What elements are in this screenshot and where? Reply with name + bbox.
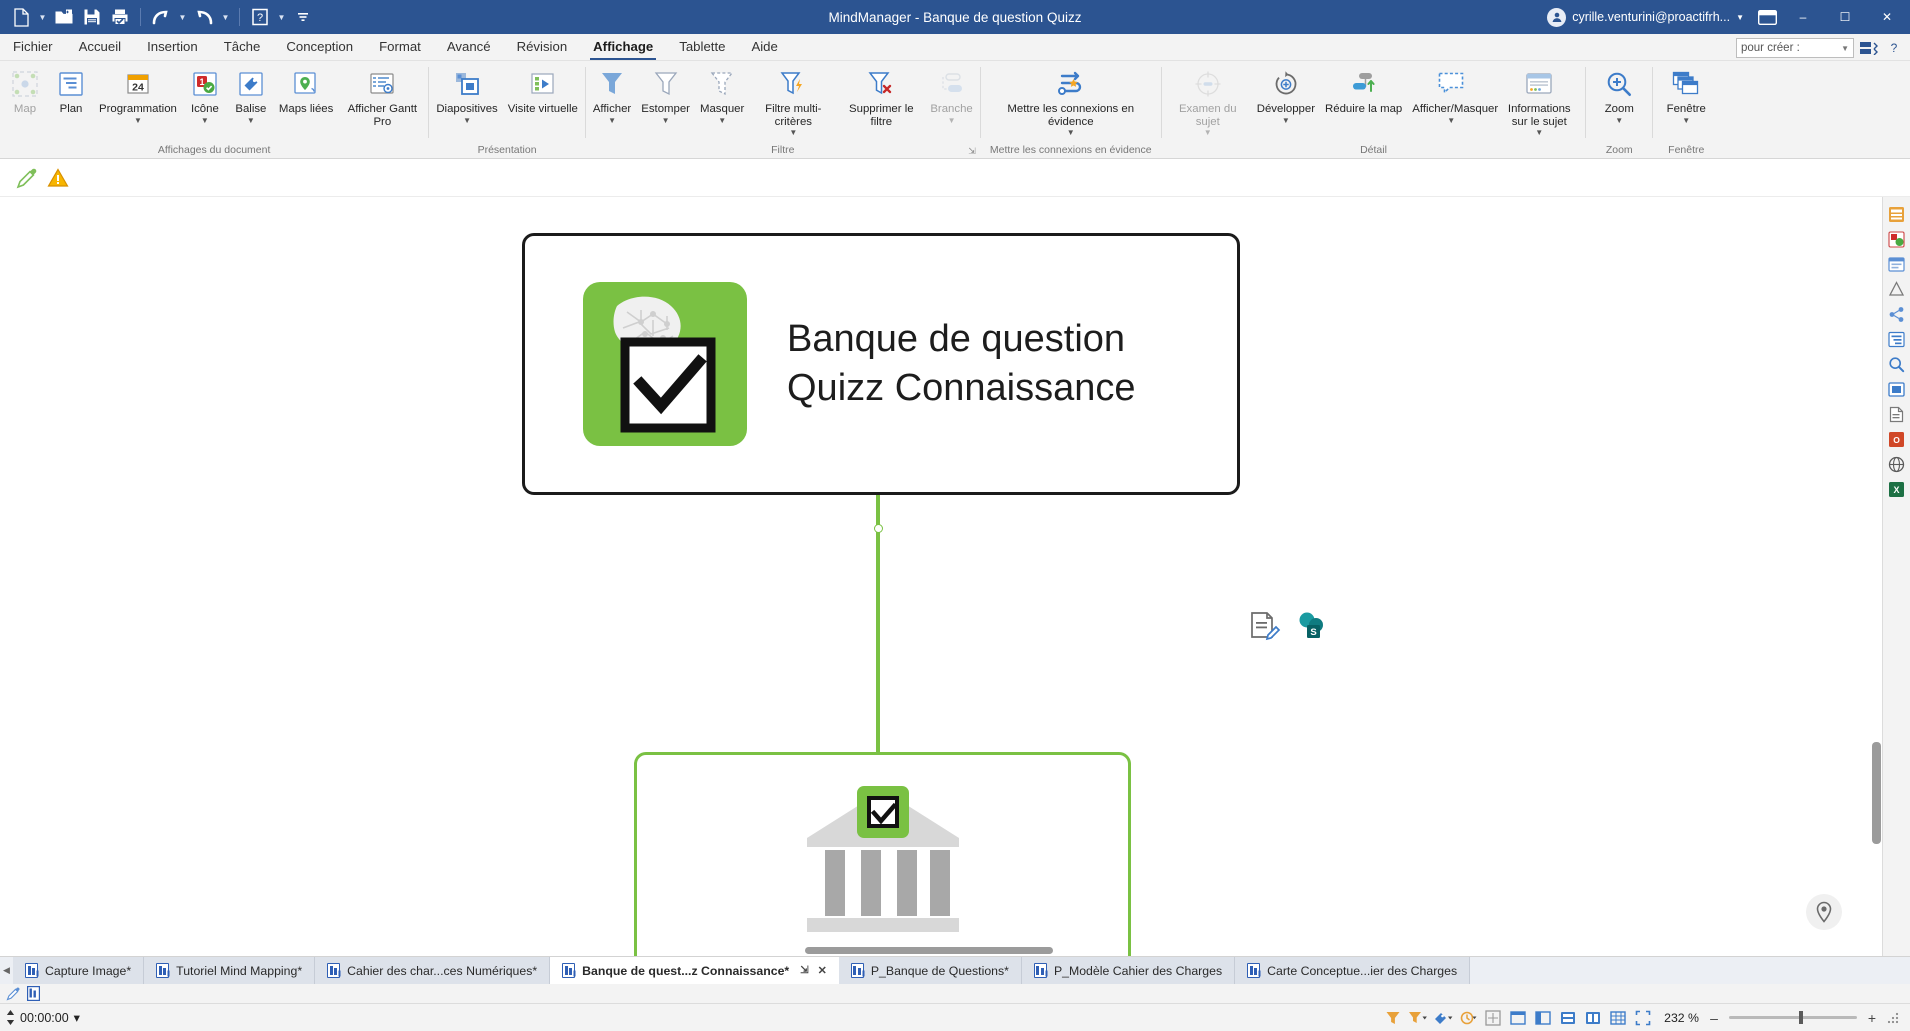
ribbon-group-label-detail: Détail: [1164, 142, 1584, 158]
zoom-out-button[interactable]: –: [1707, 1010, 1721, 1026]
filtre-dialog-launcher[interactable]: ⇲: [968, 143, 976, 159]
document-tab-label: Capture Image*: [45, 964, 131, 978]
outline-view-icon: [58, 68, 84, 100]
topic-review-icon: [1194, 68, 1222, 100]
horizontal-scrollbar-thumb[interactable]: [805, 947, 1053, 954]
ribbon-label-maps-liees: Maps liées: [279, 103, 333, 116]
svg-text:?: ?: [1891, 41, 1898, 55]
chevron-down-icon: ▼: [1204, 128, 1212, 138]
document-tab-tutoriel-mind-mapping[interactable]: Tutoriel Mind Mapping*: [144, 957, 315, 984]
chevron-down-icon[interactable]: ▼: [1447, 116, 1455, 126]
map-pin-icon[interactable]: [1806, 894, 1842, 930]
document-tab-label: Banque de quest...z Connaissance*: [582, 964, 789, 978]
ribbon-button-visite-virtuelle[interactable]: Visite virtuelle: [503, 66, 583, 116]
ribbon-button-map[interactable]: Map: [2, 66, 48, 116]
ribbon-label-icone: Icône: [191, 103, 219, 116]
map-timer[interactable]: 00:00:00 ▾: [6, 1010, 80, 1025]
warning-triangle-icon[interactable]: [47, 167, 69, 189]
chevron-down-icon[interactable]: ▼: [608, 116, 616, 126]
web-panel-icon[interactable]: [1886, 453, 1908, 475]
svg-text:24: 24: [132, 82, 144, 94]
ribbon-label-visite-virtuelle: Visite virtuelle: [508, 103, 578, 116]
mindmanager-doc-icon: [1034, 963, 1047, 978]
tab-aide[interactable]: Aide: [738, 36, 790, 60]
new-document-caret[interactable]: ▼: [36, 4, 49, 30]
gantt-pro-icon: [369, 68, 395, 100]
ribbon-button-fenetre[interactable]: Fenêtre ▼: [1655, 66, 1717, 126]
ribbon-label-afficher-gantt-pro: Afficher Gantt Pro: [343, 103, 421, 128]
ribbon-button-estomper[interactable]: Estomper ▼: [636, 66, 695, 126]
tab-insertion[interactable]: Insertion: [134, 36, 211, 60]
highlight-connections-icon: [1055, 68, 1087, 100]
ribbon-label-afficher-filtre: Afficher: [593, 103, 631, 116]
resize-grip-icon[interactable]: [1882, 1008, 1904, 1028]
undo-button[interactable]: [148, 4, 174, 30]
ribbon-label-informations-sur-le-sujet: Informations sur le sujet: [1500, 103, 1578, 128]
library-icon[interactable]: [1886, 203, 1908, 225]
svg-text:?: ?: [257, 12, 263, 24]
ribbon-group-label-zoom: Zoom: [1588, 142, 1650, 158]
funnel-filled-icon: [599, 68, 625, 100]
outline-panel-icon[interactable]: [1886, 328, 1908, 350]
ribbon-label-diapositives: Diapositives: [436, 103, 497, 116]
menu-right-controls: pour créer : ▼ ?: [1736, 38, 1910, 60]
customize-qat-button[interactable]: [290, 4, 316, 30]
chevron-down-icon[interactable]: ▼: [789, 128, 797, 138]
ribbon-label-fenetre: Fenêtre: [1667, 103, 1706, 116]
ribbon-display-options-icon[interactable]: [1752, 2, 1782, 32]
ribbon-button-afficher-filtre[interactable]: Afficher ▼: [588, 66, 636, 126]
status-bar-right: 232 % – +: [1382, 1008, 1904, 1028]
panel-split-icon[interactable]: [1557, 1008, 1579, 1028]
tasks-panel-icon[interactable]: [1886, 253, 1908, 275]
tab-revision[interactable]: Révision: [504, 36, 581, 60]
zoom-in-button[interactable]: +: [1865, 1010, 1879, 1026]
print-document-button[interactable]: [107, 4, 133, 30]
document-tab-label: Carte Conceptue...ier des Charges: [1267, 964, 1457, 978]
ribbon-button-developper[interactable]: Développer ▼: [1252, 66, 1320, 126]
map-root-line1: Banque de question: [787, 315, 1136, 364]
ribbon-label-estomper: Estomper: [641, 103, 690, 116]
ribbon-button-mettre-connexions-evidence[interactable]: Mettre les connexions en évidence ▼: [986, 66, 1156, 138]
map-root-attachments: S: [1248, 611, 1328, 641]
slides-panel-icon[interactable]: [1886, 378, 1908, 400]
ribbon-button-icone[interactable]: 1 Icône ▼: [182, 66, 228, 126]
notes-panel-icon[interactable]: [1886, 403, 1908, 425]
ribbon-button-programmation[interactable]: 24 Programmation ▼: [94, 66, 182, 126]
show-hide-icon: [1437, 68, 1465, 100]
svg-text:X: X: [1893, 485, 1899, 495]
tell-me-placeholder: pour créer :: [1741, 42, 1800, 54]
chevron-down-icon: ▼: [1736, 13, 1744, 22]
ribbon-label-examen-du-sujet: Examen du sujet: [1169, 103, 1247, 128]
ribbon-label-masquer: Masquer: [700, 103, 744, 116]
tab-tache[interactable]: Tâche: [211, 36, 274, 60]
map-root-topic[interactable]: Banque de question Quizz Connaissance: [522, 233, 1240, 495]
new-document-button[interactable]: [8, 4, 34, 30]
grid-icon[interactable]: [1607, 1008, 1629, 1028]
icon-marker-icon: 1: [192, 68, 218, 100]
map-root-text: Banque de question Quizz Connaissance: [787, 315, 1136, 414]
ribbon-button-supprimer-le-filtre[interactable]: Supprimer le filtre: [837, 66, 925, 128]
ribbon-button-plan[interactable]: Plan: [48, 66, 94, 116]
tab-fichier[interactable]: Fichier: [0, 36, 66, 60]
document-tab-cahier-des-charges-numeriques[interactable]: Cahier des char...ces Numériques*: [315, 957, 550, 984]
filter-dropdown-icon[interactable]: [1407, 1008, 1429, 1028]
tab-accueil[interactable]: Accueil: [66, 36, 135, 60]
linked-maps-icon: [293, 68, 319, 100]
ribbon-group-fenetre: Fenêtre ▼ Fenêtre: [1653, 61, 1719, 158]
mindmanager-doc-icon: [1247, 963, 1260, 978]
topic-info-icon: [1525, 68, 1553, 100]
ribbon-button-afficher-gantt-pro[interactable]: Afficher Gantt Pro: [338, 66, 426, 128]
document-icon[interactable]: [27, 986, 40, 1001]
tell-me-input[interactable]: pour créer : ▼: [1736, 38, 1854, 58]
help-quick-button[interactable]: ?: [247, 4, 273, 30]
mindmanager-doc-icon: [327, 963, 340, 978]
account-name: cyrille.venturini@proactifrh...: [1572, 10, 1730, 24]
chevron-down-icon[interactable]: ▼: [134, 116, 142, 126]
ribbon-group-label-filtre-text: Filtre: [771, 144, 794, 156]
document-tab-carte-conceptuelle-cahier-des-charges[interactable]: Carte Conceptue...ier des Charges: [1235, 957, 1470, 984]
restore-button[interactable]: ☐: [1824, 0, 1866, 34]
search-icon[interactable]: [1886, 353, 1908, 375]
chevron-down-icon[interactable]: ▼: [1067, 128, 1075, 138]
chevron-down-icon[interactable]: ▼: [247, 116, 255, 126]
avatar: [1547, 8, 1566, 27]
expand-icon: [1272, 68, 1300, 100]
map-child-topic[interactable]: Quizz Connaissance: [634, 752, 1131, 956]
notes-icon[interactable]: [1248, 611, 1282, 641]
ribbon-button-zoom[interactable]: Zoom ▼: [1588, 66, 1650, 126]
help-icon[interactable]: ?: [1884, 38, 1904, 58]
mindmanager-doc-icon: [851, 963, 864, 978]
timer-caret-icon[interactable]: ▾: [74, 1010, 80, 1025]
ribbon-label-branche: Branche: [930, 103, 972, 116]
tab-tablette[interactable]: Tablette: [666, 36, 738, 60]
chevron-down-icon[interactable]: ▼: [1682, 116, 1690, 126]
svg-text:1: 1: [199, 77, 204, 87]
ribbon-group-filtre: Afficher ▼ Estomper ▼ Masquer ▼: [586, 61, 980, 158]
map-markers-icon[interactable]: [1886, 228, 1908, 250]
document-tab-label: Cahier des char...ces Numériques*: [347, 964, 537, 978]
tag-status-icon[interactable]: [1432, 1008, 1454, 1028]
chevron-down-icon[interactable]: ▼: [662, 116, 670, 126]
qat-separator: [140, 8, 141, 26]
office365-icon[interactable]: O: [1886, 428, 1908, 450]
chevron-down-icon[interactable]: ▼: [1615, 116, 1623, 126]
pen-highlighter-icon[interactable]: [6, 986, 21, 1001]
ribbon: Map Plan 24 Programmation ▼ 1 Icône: [0, 61, 1910, 159]
ribbon-group-label-fenetre: Fenêtre: [1655, 142, 1717, 158]
excel-panel-icon[interactable]: X: [1886, 478, 1908, 500]
redo-button[interactable]: [191, 4, 217, 30]
chevron-down-icon[interactable]: ▼: [1535, 128, 1543, 138]
ribbon-group-presentation: Diapositives ▼ Visite virtuelle Présenta…: [429, 61, 584, 158]
sharepoint-icon[interactable]: S: [1296, 611, 1328, 641]
zoom-slider-track[interactable]: [1729, 1016, 1857, 1019]
panel-left-icon[interactable]: [1532, 1008, 1554, 1028]
tab-conception[interactable]: Conception: [273, 36, 366, 60]
document-tab-p-modele-cahier-des-charges[interactable]: P_Modèle Cahier des Charges: [1022, 957, 1235, 984]
ribbon-label-zoom: Zoom: [1605, 103, 1634, 116]
document-tab-bar: ◀ Capture Image* Tutoriel Mind Mapping* …: [0, 956, 1910, 1003]
walkthrough-icon: [530, 68, 556, 100]
windows-cascade-icon: [1672, 68, 1700, 100]
ribbon-button-balise[interactable]: Balise ▼: [228, 66, 274, 126]
ribbon-button-filtre-multi-criteres[interactable]: Filtre multi-critères ▼: [749, 66, 837, 138]
tab-avance[interactable]: Avancé: [434, 36, 504, 60]
tab-format[interactable]: Format: [366, 36, 434, 60]
zoom-value: 232 %: [1657, 1011, 1699, 1025]
ribbon-button-reduire-la-map[interactable]: Réduire la map: [1320, 66, 1407, 116]
ribbon-label-balise: Balise: [235, 103, 266, 116]
share-panel-icon[interactable]: [1886, 303, 1908, 325]
panel-right-icon[interactable]: [1582, 1008, 1604, 1028]
right-task-rail: O X: [1882, 197, 1910, 956]
zoom-slider-thumb[interactable]: [1799, 1011, 1803, 1024]
fit-map-icon[interactable]: [1507, 1008, 1529, 1028]
ribbon-button-masquer[interactable]: Masquer ▼: [695, 66, 749, 126]
title-bar: ▼ ▼ ▼ ? ▼ MindManager - Banque de questi…: [0, 0, 1910, 34]
document-tab-p-banque-de-questions[interactable]: P_Banque de Questions*: [839, 957, 1022, 984]
undo-caret[interactable]: ▼: [176, 4, 189, 30]
clear-filter-icon: [867, 68, 895, 100]
brain-checkbox-icon: [583, 282, 747, 446]
ribbon-button-informations-sur-le-sujet[interactable]: Informations sur le sujet ▼: [1495, 66, 1583, 138]
slides-icon: [454, 68, 480, 100]
tag-icon: [238, 68, 264, 100]
open-document-button[interactable]: [51, 4, 77, 30]
ribbon-group-label-affichages: Affichages du document: [2, 142, 426, 158]
work-area: Banque de question Quizz Connaissance S: [0, 197, 1910, 956]
account-button[interactable]: cyrille.venturini@proactifrh... ▼: [1539, 5, 1752, 30]
map-canvas[interactable]: Banque de question Quizz Connaissance S: [0, 197, 1882, 956]
svg-text:O: O: [1893, 435, 1900, 445]
svg-text:S: S: [1310, 627, 1316, 638]
ribbon-group-connexions: Mettre les connexions en évidence ▼ Mett…: [981, 61, 1161, 158]
ribbon-label-reduire-la-map: Réduire la map: [1325, 103, 1402, 116]
collapse-map-icon: [1350, 68, 1378, 100]
ribbon-button-afficher-masquer[interactable]: Afficher/Masquer ▼: [1407, 66, 1495, 126]
ribbon-button-branche[interactable]: Branche ▼: [925, 66, 977, 126]
ribbon-options-icon[interactable]: [1859, 38, 1879, 58]
funnel-outline-icon: [653, 68, 679, 100]
status-bar: 00:00:00 ▾: [0, 1003, 1910, 1031]
power-filter-icon: [779, 68, 807, 100]
map-root-line2: Quizz Connaissance: [787, 364, 1136, 413]
zoom-slider[interactable]: 232 % – +: [1657, 1010, 1879, 1026]
ribbon-tab-strip: Fichier Accueil Insertion Tâche Concepti…: [0, 34, 1910, 61]
index-icon[interactable]: [1886, 278, 1908, 300]
ribbon-label-afficher-masquer: Afficher/Masquer: [1412, 103, 1490, 116]
connector-root-to-child: [876, 495, 880, 753]
ribbon-button-diapositives[interactable]: Diapositives ▼: [431, 66, 502, 126]
ribbon-label-plan: Plan: [60, 103, 83, 116]
help-quick-caret[interactable]: ▼: [275, 4, 288, 30]
timer-value: 00:00:00: [20, 1011, 69, 1025]
ribbon-label-mettre-connexions-evidence: Mettre les connexions en évidence: [991, 103, 1151, 128]
document-tab-underrow: [0, 984, 1910, 1003]
fullscreen-icon[interactable]: [1632, 1008, 1654, 1028]
timer-updown-icon[interactable]: [6, 1010, 15, 1025]
ribbon-group-zoom: Zoom ▼ Zoom: [1586, 61, 1652, 158]
zoom-in-icon: [1605, 68, 1633, 100]
ribbon-button-maps-liees[interactable]: Maps liées: [274, 66, 338, 116]
ribbon-group-label-filtre: Filtre ⇲: [588, 142, 978, 158]
document-tab-label: P_Banque de Questions*: [871, 964, 1009, 978]
close-button[interactable]: ✕: [1866, 0, 1908, 34]
chevron-down-icon: ▼: [948, 116, 956, 126]
mindmanager-doc-icon: [562, 963, 575, 978]
mindmanager-doc-icon: [25, 963, 38, 978]
document-tab-label: P_Modèle Cahier des Charges: [1054, 964, 1222, 978]
document-tab-capture-image[interactable]: Capture Image*: [13, 957, 144, 984]
tab-close-icon[interactable]: ✕: [818, 964, 827, 977]
ribbon-group-label-connexions-text: Mettre les connexions en évidence: [990, 144, 1152, 156]
vertical-scrollbar-thumb[interactable]: [1872, 742, 1881, 844]
ribbon-label-supprimer-le-filtre: Supprimer le filtre: [842, 103, 920, 128]
funnel-dashed-icon: [709, 68, 735, 100]
chevron-down-icon[interactable]: ▼: [201, 116, 209, 126]
chevron-down-icon[interactable]: ▼: [463, 116, 471, 126]
mindmanager-doc-icon: [156, 963, 169, 978]
ribbon-group-affichages-du-document: Map Plan 24 Programmation ▼ 1 Icône: [0, 61, 428, 158]
ribbon-group-label-connexions: Mettre les connexions en évidence: [983, 142, 1159, 158]
chevron-down-icon[interactable]: ▼: [1282, 116, 1290, 126]
quick-access-toolbar: ▼ ▼ ▼ ? ▼: [0, 4, 316, 30]
marker-bar: [0, 159, 1910, 197]
document-tab-row: ◀ Capture Image* Tutoriel Mind Mapping* …: [0, 957, 1910, 984]
save-document-button[interactable]: [79, 4, 105, 30]
calendar-24-icon: 24: [125, 68, 151, 100]
ribbon-label-map: Map: [14, 103, 36, 116]
ribbon-label-programmation: Programmation: [99, 103, 177, 116]
marker-status-icon[interactable]: [1457, 1008, 1479, 1028]
document-tab-label: Tutoriel Mind Mapping*: [176, 964, 302, 978]
status-bar-left: 00:00:00 ▾: [6, 1010, 80, 1025]
qat-separator-2: [239, 8, 240, 26]
map-view-icon: [12, 68, 38, 100]
tab-popout-icon[interactable]: ⇲: [800, 965, 808, 976]
document-tab-banque-de-question-quizz-connaissance[interactable]: Banque de quest...z Connaissance* ⇲ ✕: [550, 957, 839, 984]
tab-scroll-prev[interactable]: ◀: [0, 957, 13, 984]
minimize-button[interactable]: –: [1782, 0, 1824, 34]
ribbon-label-filtre-multi-criteres: Filtre multi-critères: [754, 103, 832, 128]
branch-icon: [939, 68, 965, 100]
filter-status-icon[interactable]: [1382, 1008, 1404, 1028]
bank-building-icon: [637, 777, 1128, 947]
chevron-down-icon[interactable]: ▼: [718, 116, 726, 126]
redo-caret[interactable]: ▼: [219, 4, 232, 30]
pen-highlighter-icon[interactable]: [16, 167, 38, 189]
chevron-down-icon[interactable]: ▼: [1841, 44, 1849, 53]
balance-icon[interactable]: [1482, 1008, 1504, 1028]
ribbon-group-detail: Examen du sujet ▼ Développer ▼ Réduire l…: [1162, 61, 1586, 158]
ribbon-label-developper: Développer: [1257, 103, 1315, 116]
title-bar-right: cyrille.venturini@proactifrh... ▼ – ☐ ✕: [1539, 0, 1910, 34]
tab-affichage[interactable]: Affichage: [580, 36, 666, 60]
ribbon-button-examen-du-sujet[interactable]: Examen du sujet ▼: [1164, 66, 1252, 138]
ribbon-group-label-presentation: Présentation: [431, 142, 582, 158]
connector-collapse-dot[interactable]: [874, 524, 883, 533]
